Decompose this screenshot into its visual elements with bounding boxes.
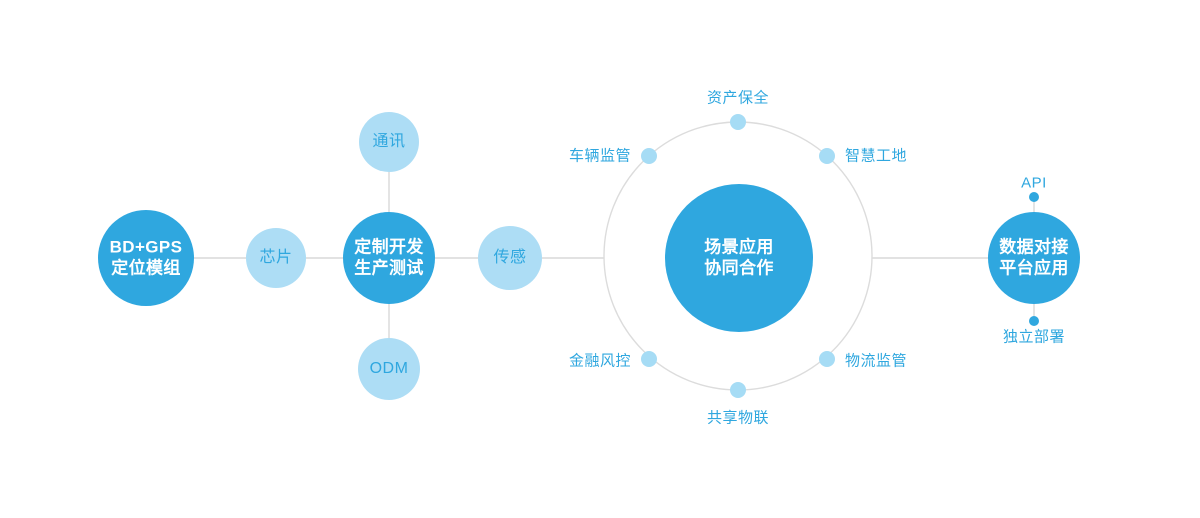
- iot-ecosystem-diagram: BD+GPS定位模组芯片定制开发生产测试通讯ODM传感场景应用协同合作数据对接平…: [0, 0, 1200, 518]
- node-circle-sensing[interactable]: [478, 226, 542, 290]
- orbit-dot-smart-site[interactable]: [819, 148, 835, 164]
- orbit-dot-asset-security[interactable]: [730, 114, 746, 130]
- orbit-dot-logistics-monitor[interactable]: [819, 351, 835, 367]
- node-circle-odm[interactable]: [358, 338, 420, 400]
- node-circle-communication[interactable]: [359, 112, 419, 172]
- node-circle-data_platform[interactable]: [988, 212, 1080, 304]
- node-circles: [98, 112, 1080, 400]
- node-circle-scenario_core[interactable]: [665, 184, 813, 332]
- orbit-dot-shared-iot[interactable]: [730, 382, 746, 398]
- diagram-canvas: [0, 0, 1200, 518]
- node-circle-chip[interactable]: [246, 228, 306, 288]
- branch-dot-independent-deploy[interactable]: [1029, 316, 1039, 326]
- connector-lines: [194, 172, 1034, 338]
- orbit-dot-vehicle-monitor[interactable]: [641, 148, 657, 164]
- node-circle-custom_dev[interactable]: [343, 212, 435, 304]
- node-circle-positioning_module[interactable]: [98, 210, 194, 306]
- branch-dot-api[interactable]: [1029, 192, 1039, 202]
- orbit-dot-finance-risk[interactable]: [641, 351, 657, 367]
